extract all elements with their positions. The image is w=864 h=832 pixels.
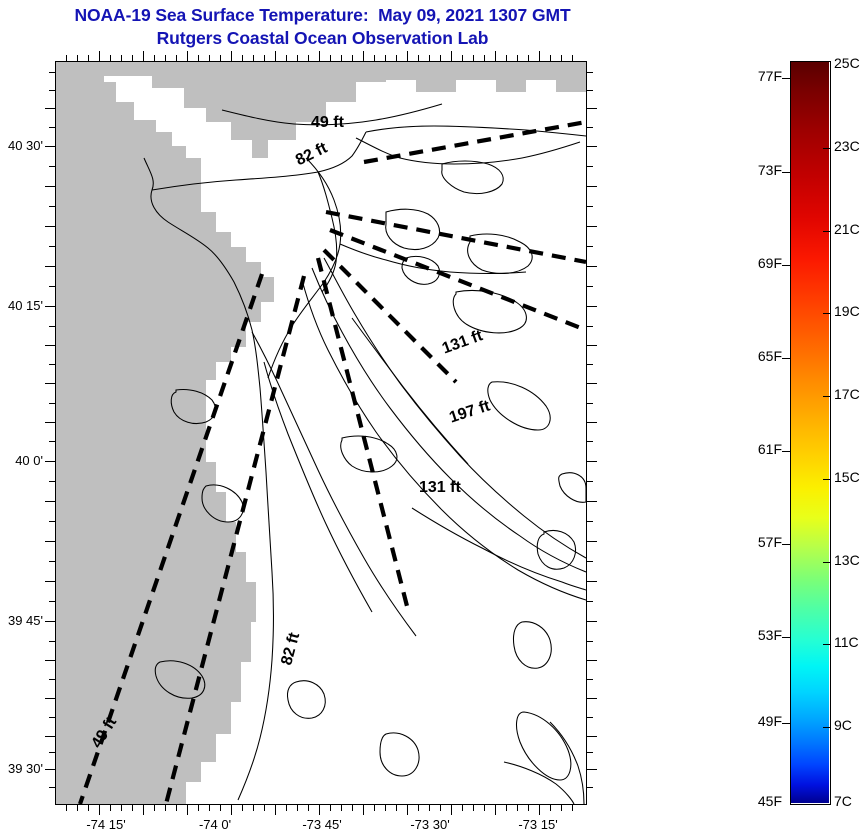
cb-tick-77f [782,78,790,79]
cb-label-23c: 23C [834,138,860,154]
cb-label-13c: 13C [834,552,860,568]
sst-map-panel[interactable]: 49 ft 82 ft 131 ft 197 ft 131 ft 82 ft 4… [55,61,587,805]
page-subtitle: Rutgers Coastal Ocean Observation Lab [0,27,645,50]
cb-label-25c: 25C [834,55,860,71]
cb-tick-13c [823,562,831,563]
cb-tick-65f [782,358,790,359]
cb-tick-73f [782,172,790,173]
colorbar-gradient [790,61,831,805]
cb-label-61f: 61F [740,441,782,457]
cb-label-19c: 19C [834,303,860,319]
cb-label-77f: 77F [740,68,782,84]
depth-label-49ft-north: 49 ft [311,114,344,132]
cb-label-11c: 11C [834,634,859,650]
cb-label-17c: 17C [834,386,860,402]
cb-label-65f: 65F [740,348,782,364]
y-tick-label-2: 40 0' [0,453,43,468]
temperature-colorbar[interactable] [790,61,831,805]
y-tick-label-4: 39 30' [0,761,43,776]
cb-tick-9c [823,727,831,728]
cb-label-73f: 73F [740,162,782,178]
cb-label-57f: 57F [740,534,782,550]
cb-tick-19c [823,313,831,314]
chart-title-block: NOAA-19 Sea Surface Temperature: May 09,… [0,4,645,50]
cb-tick-57f [782,544,790,545]
cb-tick-21c [823,231,831,232]
x-tick-label-2: -73 45' [276,817,368,832]
cb-label-9c: 9C [834,717,852,733]
sst-map-graphic [56,62,586,804]
cb-tick-17c [823,396,831,397]
cb-tick-69f [782,265,790,266]
cb-label-7c: 7C [834,793,852,809]
y-tick-label-1: 40 15' [0,298,43,313]
cb-tick-49f [782,723,790,724]
cb-label-69f: 69F [740,255,782,271]
x-tick-label-3: -73 30' [384,817,476,832]
y-tick-label-3: 39 45' [0,613,43,628]
cb-tick-15c [823,479,831,480]
cb-label-15c: 15C [834,469,860,485]
cb-tick-11c [823,644,831,645]
x-tick-label-0: -74 15' [60,817,152,832]
cb-label-53f: 53F [740,627,782,643]
cb-tick-61f [782,451,790,452]
y-tick-label-0: 40 30' [0,138,43,153]
x-tick-label-1: -74 0' [169,817,261,832]
colorbar-gradient-svg [791,62,829,803]
cb-label-45f: 45F [740,793,782,809]
cb-tick-53f [782,637,790,638]
cb-label-49f: 49F [740,713,782,729]
cb-label-21c: 21C [834,221,860,237]
cb-tick-23c [823,148,831,149]
depth-label-131ft-south: 131 ft [419,479,461,497]
page-title: NOAA-19 Sea Surface Temperature: May 09,… [0,4,645,27]
x-tick-label-4: -73 15' [492,817,584,832]
